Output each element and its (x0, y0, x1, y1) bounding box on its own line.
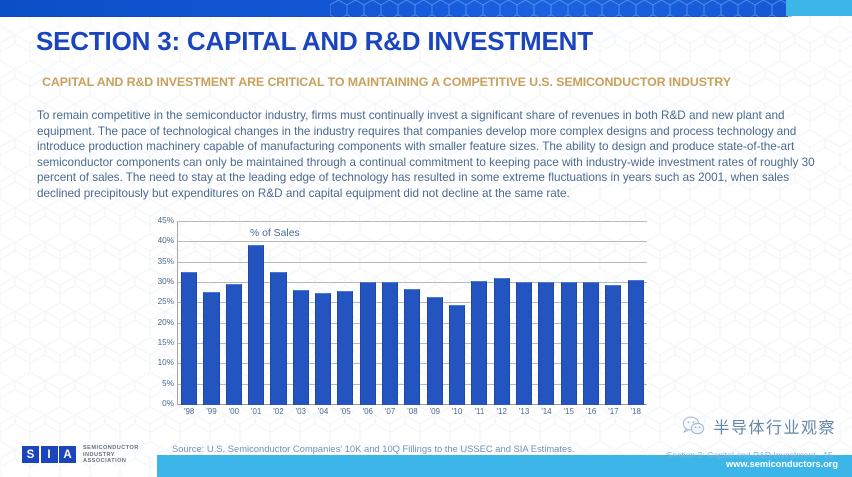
body-paragraph: To remain competitive in the semiconduct… (37, 108, 826, 202)
sia-logo: SIA SEMICONDUCTOR INDUSTRY ASSOCIATION (22, 445, 139, 465)
x-axis-tick-label: '02 (267, 407, 289, 421)
y-axis-tick-label: 40% (146, 236, 174, 245)
sia-logo-text: SEMICONDUCTOR INDUSTRY ASSOCIATION (83, 445, 139, 465)
x-axis-tick-label: '18 (625, 407, 647, 421)
sia-logo-letter: A (59, 446, 76, 463)
x-axis-labels: '98'99'00'01'02'03'04'05'06'07'08'09'10'… (178, 407, 647, 421)
bar-column (424, 222, 446, 405)
bar-column (357, 222, 379, 405)
chart-bar (337, 291, 353, 405)
bar-column (625, 222, 647, 405)
chart-bars (178, 222, 647, 405)
website-url[interactable]: www.semiconductors.org (726, 459, 838, 469)
chart-bar (471, 281, 487, 405)
x-axis-tick-label: '08 (401, 407, 423, 421)
sia-line-3: ASSOCIATION (83, 458, 139, 465)
x-axis-tick-label: '07 (379, 407, 401, 421)
bar-column (334, 222, 356, 405)
bar-column (178, 222, 200, 405)
bar-column (468, 222, 490, 405)
chart-bar (628, 280, 644, 405)
bar-column (491, 222, 513, 405)
chart-bar (181, 272, 197, 405)
x-axis-tick-label: '17 (602, 407, 624, 421)
chart-bar (203, 292, 219, 405)
x-axis-tick-label: '14 (535, 407, 557, 421)
chart-bar (404, 289, 420, 405)
x-axis-tick-label: '12 (491, 407, 513, 421)
x-axis-tick-label: '98 (178, 407, 200, 421)
chart-bar (248, 245, 264, 405)
bar-column (580, 222, 602, 405)
bar-column (535, 222, 557, 405)
chart-bar (494, 278, 510, 405)
chart-bar (270, 272, 286, 405)
bar-column (558, 222, 580, 405)
bar-column (446, 222, 468, 405)
x-axis-tick-label: '15 (558, 407, 580, 421)
bar-column (267, 222, 289, 405)
x-axis-tick-label: '99 (200, 407, 222, 421)
wechat-icon (682, 414, 706, 438)
y-axis-tick-label: 30% (146, 277, 174, 286)
chart-bar (382, 282, 398, 405)
watermark-text: 半导体行业观察 (713, 414, 836, 438)
x-axis-tick-label: '04 (312, 407, 334, 421)
y-axis-tick-label: 5% (146, 379, 174, 388)
x-axis-tick-label: '10 (446, 407, 468, 421)
y-axis-tick-label: 0% (146, 399, 174, 408)
x-axis-tick-label: '16 (580, 407, 602, 421)
bar-column (513, 222, 535, 405)
bar-column (602, 222, 624, 405)
top-banner (0, 0, 852, 17)
sia-line-2: INDUSTRY (83, 452, 139, 459)
x-axis-tick-label: '06 (357, 407, 379, 421)
bar-column (312, 222, 334, 405)
sia-logo-letter: S (22, 446, 39, 463)
chart-bar (583, 282, 599, 405)
chart-bar (226, 284, 242, 405)
x-axis-tick-label: '05 (334, 407, 356, 421)
bar-column (245, 222, 267, 405)
bar-column (379, 222, 401, 405)
x-axis-tick-label: '13 (513, 407, 535, 421)
y-axis-tick-label: 45% (146, 216, 174, 225)
chart-bar (360, 282, 376, 405)
chart-bar (538, 282, 554, 405)
x-axis-tick-label: '11 (468, 407, 490, 421)
chart-bar (315, 293, 331, 405)
wechat-watermark: 半导体行业观察 (682, 414, 836, 438)
y-axis-tick-label: 15% (146, 338, 174, 347)
x-axis-tick-label: '03 (290, 407, 312, 421)
y-axis-tick-label: 20% (146, 318, 174, 327)
page-title: SECTION 3: CAPITAL AND R&D INVESTMENT (36, 26, 593, 57)
x-axis-tick-label: '09 (424, 407, 446, 421)
bar-column (290, 222, 312, 405)
chart-bar (293, 290, 309, 405)
chart-source-note: Source: U.S. Semiconductor Companies' 10… (172, 443, 575, 454)
x-axis-tick-label: '01 (245, 407, 267, 421)
chart-bar (516, 282, 532, 405)
banner-shadow (4, 16, 792, 17)
slide-footer-note: Section 3: Capital and R&D Investment - … (667, 450, 838, 460)
banner-cyan-tab (786, 0, 852, 16)
bar-column (200, 222, 222, 405)
chart-bar (449, 305, 465, 405)
sia-logo-squares: SIA (22, 446, 76, 463)
sia-logo-letter: I (41, 446, 58, 463)
sia-line-1: SEMICONDUCTOR (83, 445, 139, 452)
y-axis-tick-label: 35% (146, 257, 174, 266)
bar-column (223, 222, 245, 405)
page-subtitle: CAPITAL AND R&D INVESTMENT ARE CRITICAL … (42, 75, 731, 89)
x-axis-tick-label: '00 (223, 407, 245, 421)
chart-bar (561, 282, 577, 405)
chart-bar (427, 297, 443, 405)
bar-column (401, 222, 423, 405)
y-axis-tick-label: 10% (146, 358, 174, 367)
banner-hex-pattern (330, 0, 788, 17)
chart-bar (605, 285, 621, 405)
capital-rd-investment-chart: % of Sales 45%40%35%30%25%20%15%10%5%0% … (146, 216, 656, 421)
y-axis-tick-label: 25% (146, 297, 174, 306)
